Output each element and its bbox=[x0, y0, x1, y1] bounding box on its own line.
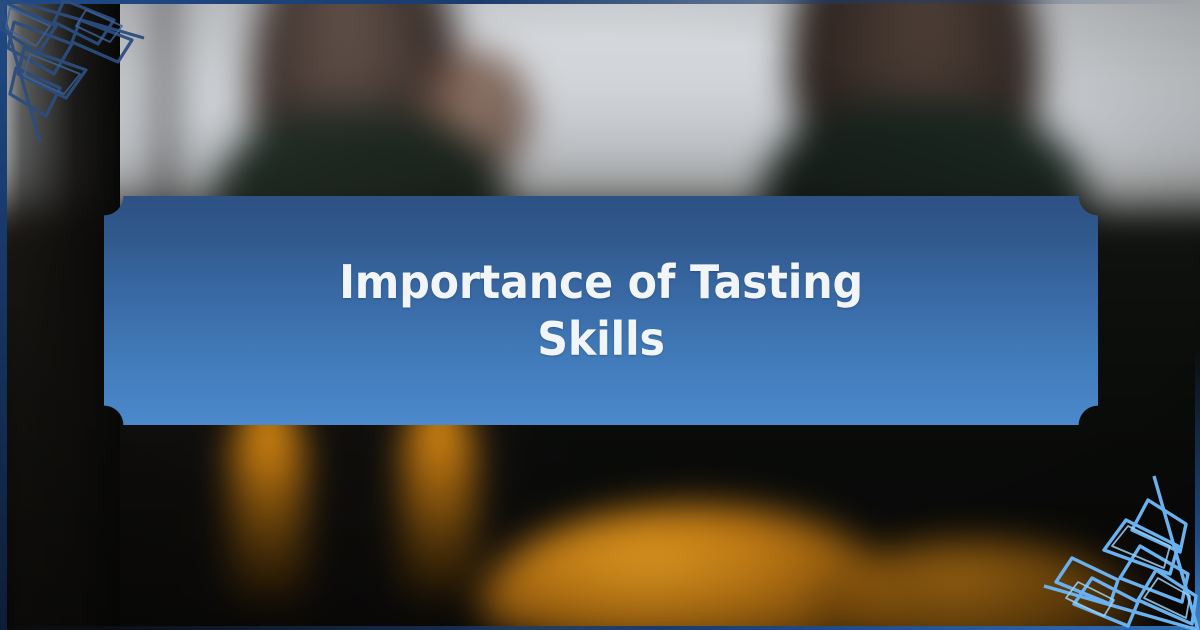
frame-edge-top bbox=[0, 0, 1200, 4]
window-mullion bbox=[158, 0, 172, 220]
page-title: Importance of Tasting Skills bbox=[303, 254, 898, 366]
frame-edge-left bbox=[0, 0, 7, 630]
share-card-canvas: Importance of Tasting Skills bbox=[0, 0, 1200, 630]
amber-bottle bbox=[403, 398, 475, 598]
frame-edge-bottom bbox=[0, 626, 1200, 630]
amber-bottle bbox=[232, 400, 304, 600]
left-dark-column bbox=[0, 0, 120, 630]
title-card: Importance of Tasting Skills bbox=[104, 196, 1098, 425]
frame-edge-right bbox=[1195, 0, 1200, 630]
